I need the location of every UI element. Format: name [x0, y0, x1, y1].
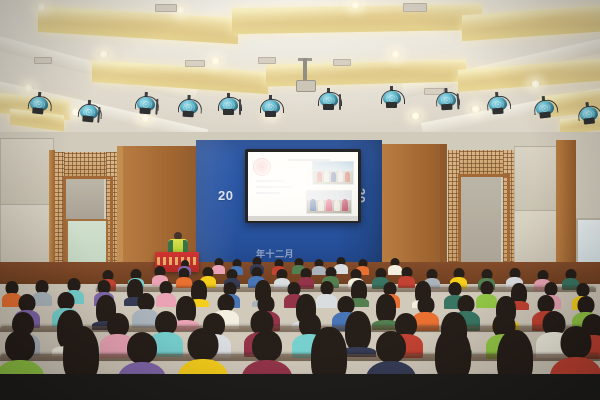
foreground-shadow: [0, 374, 600, 400]
head: [5, 330, 35, 362]
par-light: [77, 103, 100, 123]
par-light: [436, 91, 459, 110]
par-light-body: [539, 111, 551, 118]
downlight: [98, 50, 109, 58]
par-light: [577, 105, 600, 126]
par-light-body: [492, 108, 503, 115]
projector-pole: [303, 58, 307, 82]
ceiling-vent: [155, 4, 177, 12]
par-light: [178, 98, 201, 117]
downlight: [410, 112, 421, 120]
par-light: [486, 95, 509, 114]
par-light-body: [32, 107, 44, 114]
downlight: [470, 105, 481, 113]
screen-bottom-bar: [248, 216, 358, 221]
par-light-cable: [339, 94, 341, 110]
par-light: [260, 99, 282, 117]
head: [188, 328, 219, 361]
doorway-left: [66, 179, 104, 219]
head: [544, 282, 557, 296]
downlight: [23, 84, 34, 92]
ceiling-vent: [34, 57, 52, 64]
downlight: [390, 50, 401, 58]
par-light: [134, 95, 157, 114]
par-light-body: [265, 111, 276, 117]
head: [480, 281, 493, 295]
ceiling-vent: [185, 60, 205, 67]
auditorium-photo: 20 20 年十二月: [0, 0, 600, 400]
head: [252, 330, 282, 362]
par-light: [318, 92, 340, 110]
backdrop-text-left: 20: [218, 188, 233, 203]
projector-body: [296, 80, 316, 92]
head: [561, 326, 592, 359]
par-light-body: [223, 109, 234, 115]
audience: [0, 250, 600, 400]
downlight: [140, 114, 151, 122]
projection-screen-frame: [245, 149, 361, 223]
head: [320, 281, 333, 295]
par-light-body: [386, 102, 397, 108]
head: [127, 332, 157, 364]
wall-panel: [514, 146, 558, 212]
par-light: [218, 97, 240, 115]
ceiling-vent: [258, 57, 276, 64]
par-light-cable: [239, 99, 241, 115]
ceiling-vent: [403, 3, 427, 12]
downlight: [350, 1, 361, 9]
downlight: [530, 80, 541, 88]
ceiling-vent: [333, 59, 351, 66]
downlight: [210, 57, 221, 65]
head: [376, 331, 406, 363]
par-light-body: [139, 108, 150, 115]
head: [448, 282, 461, 296]
par-light-body: [183, 111, 194, 118]
downlight: [36, 3, 47, 11]
par-light-body: [82, 115, 93, 122]
par-light-body: [441, 104, 452, 111]
par-light-body: [323, 104, 334, 110]
screen-glare: [248, 152, 358, 216]
par-light: [533, 99, 557, 119]
ceiling-projector: [296, 58, 314, 92]
par-light: [27, 95, 51, 115]
wall-panel: [0, 138, 54, 206]
projection-screen: [248, 152, 358, 216]
par-light: [381, 90, 403, 108]
head: [577, 283, 590, 297]
